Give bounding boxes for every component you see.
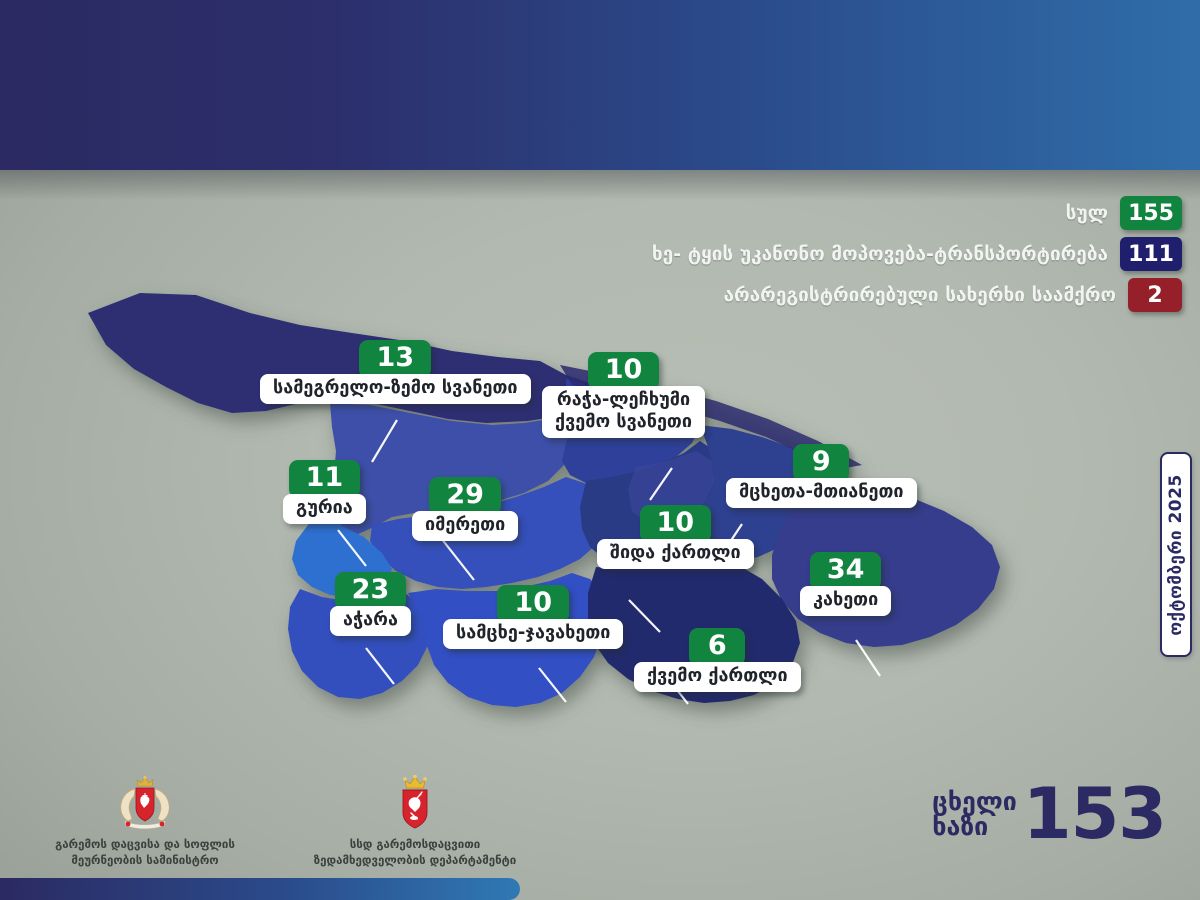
map-marker-shida-kartli[interactable]: 10 შიდა ქართლი <box>597 505 754 569</box>
hotline-words: ცხელი ხაზი <box>932 789 1017 839</box>
map-marker-kakheti[interactable]: 34 კახეთი <box>800 552 891 616</box>
logo-block-ministry-of-environment: გარემოს დაცვისა და სოფლის მეურნეობის სამ… <box>30 775 260 885</box>
marker-count-mtskheta-mtianeti: 9 <box>793 444 849 482</box>
marker-count-samegrelo-zemo-svaneti: 13 <box>359 340 431 378</box>
hotline-number: 153 <box>1023 782 1166 846</box>
marker-count-guria: 11 <box>289 460 361 498</box>
hotline-word-line1: ცხელი <box>932 789 1017 814</box>
marker-label-guria: გურია <box>283 494 366 524</box>
legend-label-illegal-logging-transport: ხე- ტყის უკანონო მოპოვება-ტრანსპორტირება <box>652 243 1108 265</box>
map-marker-racha-lechkhumi-kvemo-svaneti[interactable]: 10 რაჭა-ლეჩხუმი ქვემო სვანეთი <box>542 352 705 438</box>
legend-label-total: სულ <box>1066 202 1108 224</box>
marker-label-kakheti: კახეთი <box>800 586 891 616</box>
marker-label-kvemo-kartli: ქვემო ქართლი <box>634 662 801 692</box>
map-marker-kvemo-kartli[interactable]: 6 ქვემო ქართლი <box>634 628 801 692</box>
legend-badge-unregistered-sawmill: 2 <box>1128 278 1182 312</box>
logo-caption-ministry-of-environment: გარემოს დაცვისა და სოფლის მეურნეობის სამ… <box>55 837 235 868</box>
month-tab: ოქტომბერი 2025 <box>1160 452 1192 657</box>
legend-badge-total: 155 <box>1120 196 1182 230</box>
georgia-coat-of-arms-icon <box>115 775 175 833</box>
supervision-department-emblem-icon <box>385 775 445 833</box>
marker-count-samtskhe-javakheti: 10 <box>497 585 569 623</box>
marker-count-shida-kartli: 10 <box>640 505 712 543</box>
marker-label-mtskheta-mtianeti: მცხეთა-მთიანეთი <box>726 478 917 508</box>
footer-logos: გარემოს დაცვისა და სოფლის მეურნეობის სამ… <box>0 775 560 885</box>
marker-label-racha-lechkhumi-kvemo-svaneti: რაჭა-ლეჩხუმი ქვემო სვანეთი <box>542 386 705 438</box>
logo-caption-environmental-supervision-department: სსდ გარემოსდაცვითი ზედამხედველობის დეპარ… <box>314 837 516 868</box>
legend-label-unregistered-sawmill: არარეგისტრირებული სახერხი საამქრო <box>724 284 1117 306</box>
bottom-accent-bar <box>0 878 520 900</box>
marker-label-shida-kartli: შიდა ქართლი <box>597 539 754 569</box>
marker-label-adjara: აჭარა <box>330 606 411 636</box>
marker-count-kakheti: 34 <box>810 552 882 590</box>
marker-label-samegrelo-zemo-svaneti: სამეგრელო-ზემო სვანეთი <box>260 374 531 404</box>
hotline-block: ცხელი ხაზი 153 <box>932 782 1166 846</box>
map-marker-samtskhe-javakheti[interactable]: 10 სამცხე-ჯავახეთი <box>443 585 623 649</box>
infographic-page: უკანონო ტყითსარგებლობის სტატისტიკა სულ 1… <box>0 0 1200 900</box>
marker-count-adjara: 23 <box>335 572 407 610</box>
legend-row-total: სულ 155 <box>1066 196 1182 230</box>
marker-label-imereti: იმერეთი <box>412 511 518 541</box>
legend-badge-illegal-logging-transport: 111 <box>1120 237 1182 271</box>
marker-count-kvemo-kartli: 6 <box>689 628 745 666</box>
logo-block-environmental-supervision-department: სსდ გარემოსდაცვითი ზედამხედველობის დეპარ… <box>300 775 530 885</box>
map-marker-imereti[interactable]: 29 იმერეთი <box>412 477 518 541</box>
marker-count-imereti: 29 <box>429 477 501 515</box>
map-marker-samegrelo-zemo-svaneti[interactable]: 13 სამეგრელო-ზემო სვანეთი <box>260 340 531 404</box>
hotline-word-line2: ხაზი <box>932 814 1017 839</box>
header-banner <box>0 0 1200 170</box>
map-marker-mtskheta-mtianeti[interactable]: 9 მცხეთა-მთიანეთი <box>726 444 917 508</box>
month-tab-label: ოქტომბერი 2025 <box>1166 474 1186 636</box>
legend: სულ 155 ხე- ტყის უკანონო მოპოვება-ტრანსპ… <box>652 196 1182 312</box>
marker-label-samtskhe-javakheti: სამცხე-ჯავახეთი <box>443 619 623 649</box>
legend-row-illegal-logging-transport: ხე- ტყის უკანონო მოპოვება-ტრანსპორტირება… <box>652 237 1182 271</box>
map-marker-guria[interactable]: 11 გურია <box>283 460 366 524</box>
legend-row-unregistered-sawmill: არარეგისტრირებული სახერხი საამქრო 2 <box>724 278 1183 312</box>
marker-count-racha-lechkhumi-kvemo-svaneti: 10 <box>588 352 660 390</box>
map-marker-adjara[interactable]: 23 აჭარა <box>330 572 411 636</box>
